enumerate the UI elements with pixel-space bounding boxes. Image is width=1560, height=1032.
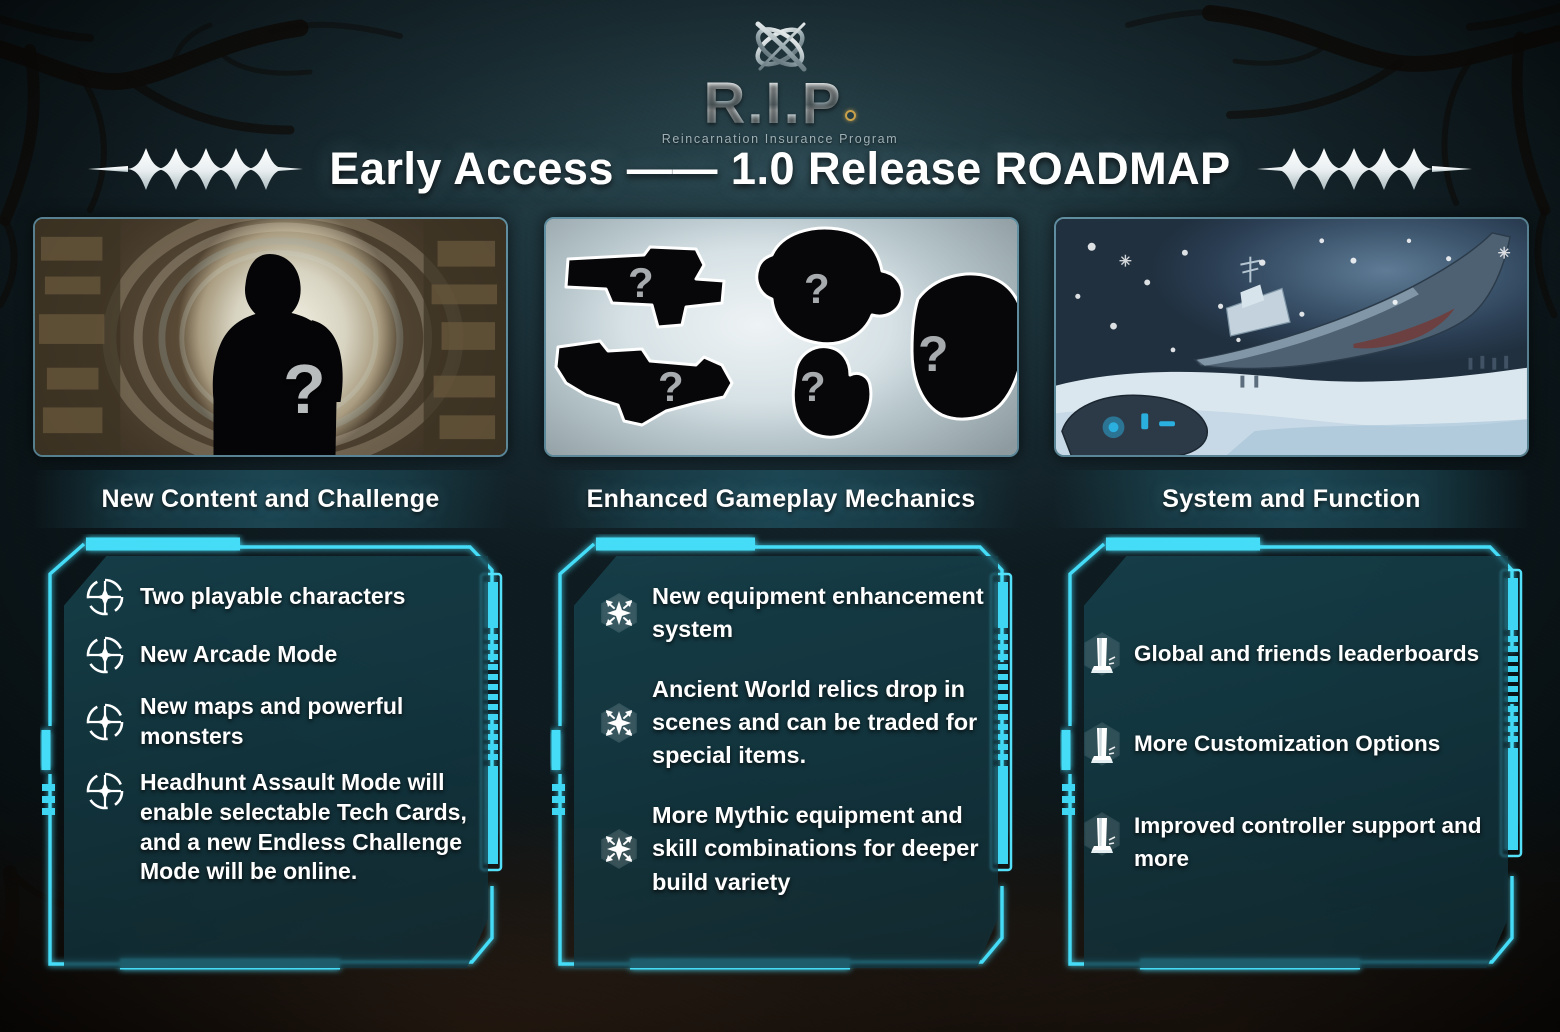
svg-text:?: ? <box>800 363 826 410</box>
svg-text:?: ? <box>628 259 654 306</box>
feature-list: New equipment enhancement system Ancient… <box>598 580 994 972</box>
column-caption: New Content and Challenge <box>101 485 439 514</box>
feature-item[interactable]: Global and friends leaderboards <box>1080 630 1510 678</box>
svg-text:?: ? <box>918 326 949 382</box>
spike-ornament-left-icon <box>88 146 303 192</box>
feature-text: More Customization Options <box>1134 728 1440 761</box>
card-enhanced-gameplay[interactable]: ? ? ? ? ? <box>544 217 1019 457</box>
column-caption: Enhanced Gameplay Mechanics <box>587 485 976 514</box>
feature-text: Global and friends leaderboards <box>1134 638 1479 671</box>
feature-text: New equipment enhancement system <box>652 580 994 647</box>
card-row: ? ? ? ? ? ? <box>33 217 1529 457</box>
arctic-shipwreck-icon <box>1056 219 1527 457</box>
caption-cell-2: Enhanced Gameplay Mechanics <box>544 470 1019 528</box>
feature-item[interactable]: New maps and powerful monsters <box>84 692 476 752</box>
caption-row: New Content and Challenge Enhanced Gamep… <box>33 470 1529 528</box>
column-caption: System and Function <box>1162 485 1421 514</box>
feature-item[interactable]: Improved controller support and more <box>1080 810 1510 875</box>
feature-text: More Mythic equipment and skill combinat… <box>652 799 994 899</box>
panel-row: Two playable characters New Arcade Mode … <box>40 534 1530 996</box>
hex-gem-burst-icon <box>598 702 640 744</box>
feature-list: Two playable characters New Arcade Mode … <box>84 576 476 972</box>
equipment-silhouettes-icon: ? ? ? ? ? <box>546 219 1019 457</box>
hex-gem-burst-icon <box>598 592 640 634</box>
feature-text: Headhunt Assault Mode will enable select… <box>140 768 476 888</box>
spike-ornament-right-icon <box>1257 146 1472 192</box>
feature-text: New Arcade Mode <box>140 640 337 670</box>
character-silhouette-icon <box>183 250 358 455</box>
feature-item[interactable]: Ancient World relics drop in scenes and … <box>598 673 994 773</box>
feature-item[interactable]: Two playable characters <box>84 576 476 618</box>
caption-cell-1: New Content and Challenge <box>33 470 508 528</box>
hex-monument-pillar-icon <box>1080 720 1124 768</box>
title-row: Early Access —— 1.0 Release ROADMAP <box>0 138 1560 200</box>
crosshair-target-icon <box>84 770 126 812</box>
page-title: Early Access —— 1.0 Release ROADMAP <box>329 143 1230 195</box>
panel-new-content: Two playable characters New Arcade Mode … <box>40 534 510 996</box>
card-question-mark: ? <box>283 349 326 429</box>
feature-item[interactable]: New Arcade Mode <box>84 634 476 676</box>
feature-item[interactable]: More Customization Options <box>1080 720 1510 768</box>
svg-text:?: ? <box>658 363 684 410</box>
feature-text: New maps and powerful monsters <box>140 692 476 752</box>
feature-item[interactable]: Headhunt Assault Mode will enable select… <box>84 768 476 888</box>
panel-enhanced-gameplay: New equipment enhancement system Ancient… <box>550 534 1020 996</box>
feature-item[interactable]: New equipment enhancement system <box>598 580 994 647</box>
hex-monument-pillar-icon <box>1080 630 1124 678</box>
card-new-content[interactable]: ? <box>33 217 508 457</box>
feature-text: Improved controller support and more <box>1134 810 1510 875</box>
hex-monument-pillar-icon <box>1080 810 1124 858</box>
crosshair-target-icon <box>84 576 126 618</box>
crosshair-target-icon <box>84 634 126 676</box>
panel-system-function: Global and friends leaderboards More Cus… <box>1060 534 1530 996</box>
feature-list: Global and friends leaderboards More Cus… <box>1080 630 1510 972</box>
feature-item[interactable]: More Mythic equipment and skill combinat… <box>598 799 994 899</box>
caption-cell-3: System and Function <box>1054 470 1529 528</box>
feature-text: Two playable characters <box>140 582 405 612</box>
feature-text: Ancient World relics drop in scenes and … <box>652 673 994 773</box>
hex-gem-burst-icon <box>598 828 640 870</box>
card-system-function[interactable] <box>1054 217 1529 457</box>
crosshair-target-icon <box>84 701 126 743</box>
svg-text:?: ? <box>804 265 830 312</box>
